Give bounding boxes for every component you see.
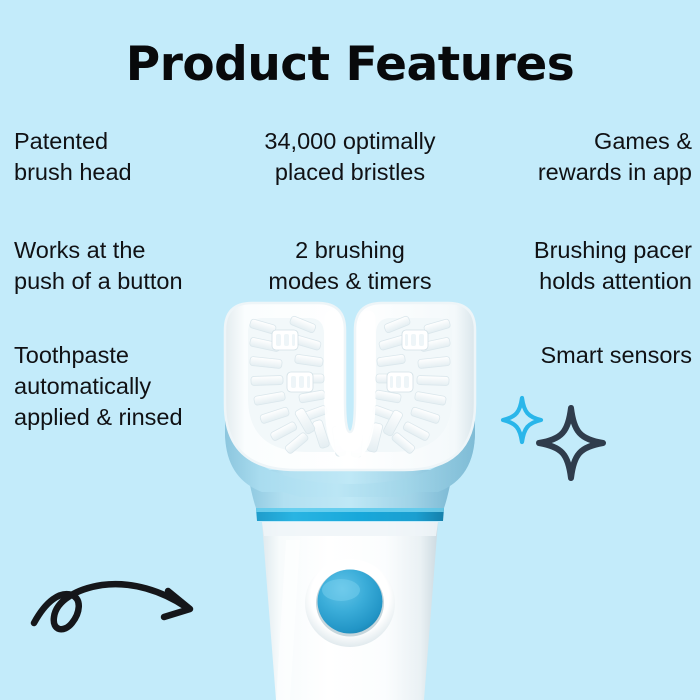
bristles-bottom — [294, 407, 403, 457]
feature-brushing-modes: 2 brushing modes & timers — [225, 235, 475, 297]
feature-smart-sensors: Smart sensors — [442, 340, 692, 371]
brush-head-outline — [225, 303, 475, 470]
mouthpiece-base — [225, 398, 475, 508]
feature-brushing-pacer: Brushing pacer holds attention — [442, 235, 692, 297]
power-button-group — [305, 559, 395, 647]
curved-arrow-decoration — [30, 565, 215, 645]
accent-ring — [256, 508, 444, 521]
bristles-left — [249, 315, 328, 454]
power-button — [318, 570, 383, 634]
feature-bristle-count: 34,000 optimally placed bristles — [225, 126, 475, 188]
feature-patented-brush-head: Patented brush head — [14, 126, 254, 188]
sparkles-decoration — [495, 392, 610, 487]
bristles-right — [372, 315, 451, 454]
arrow-path-icon — [34, 584, 186, 629]
toothbrush-handle — [262, 522, 438, 700]
feature-toothpaste-auto: Toothpaste automatically applied & rinse… — [14, 340, 254, 433]
brush-head — [225, 303, 475, 470]
feature-games-rewards: Games & rewards in app — [442, 126, 692, 188]
page-title: Product Features — [0, 40, 700, 89]
feature-push-of-a-button: Works at the push of a button — [14, 235, 254, 297]
product-features-infographic: Product Features — [0, 0, 700, 700]
sparkle-large-icon — [539, 408, 603, 478]
sparkle-small-icon — [503, 398, 541, 442]
